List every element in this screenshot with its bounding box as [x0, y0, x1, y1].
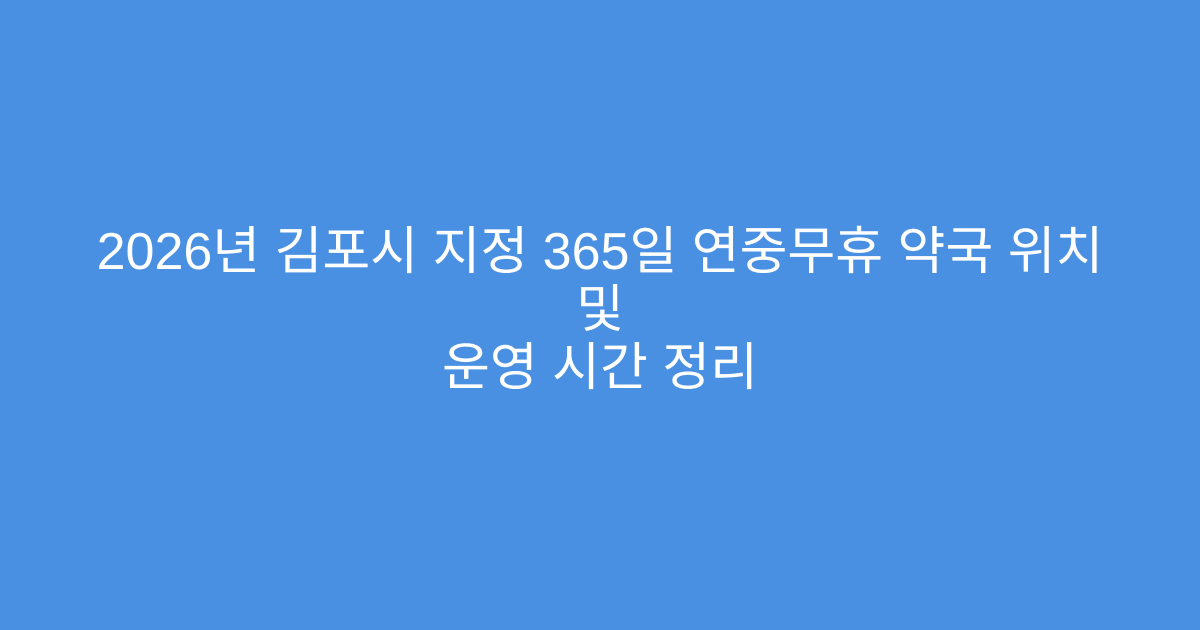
og-card-canvas: 2026년 김포시 지정 365일 연중무휴 약국 위치 및 운영 시간 정리 [0, 0, 1200, 630]
page-title: 2026년 김포시 지정 365일 연중무휴 약국 위치 및 운영 시간 정리 [72, 223, 1128, 397]
headline-block: 2026년 김포시 지정 365일 연중무휴 약국 위치 및 운영 시간 정리 [72, 223, 1128, 397]
